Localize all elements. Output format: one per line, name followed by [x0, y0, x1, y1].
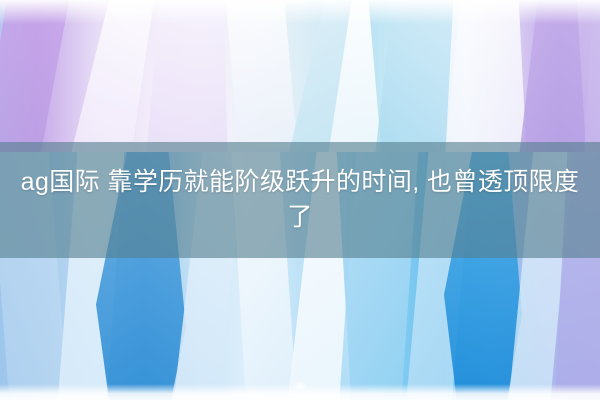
- background-shard-upper-6: [324, 0, 384, 152]
- background-shard-upper-8: [444, 0, 528, 152]
- caption-headline: ag国际 靠学历就能阶级跃升的时间, 也曾透顶限度了: [14, 165, 586, 236]
- caption-band: ag国际 靠学历就能阶级跃升的时间, 也曾透顶限度了: [0, 142, 600, 258]
- background-shard-upper-2: [60, 0, 156, 152]
- background-shard-upper-9: [516, 0, 594, 152]
- background-shard-upper-7: [372, 0, 462, 152]
- background-upper-panel: [0, 0, 600, 152]
- background-shard-upper-10: [576, 0, 600, 152]
- poster-canvas: ag国际 靠学历就能阶级跃升的时间, 也曾透顶限度了: [0, 0, 600, 400]
- background-shard-upper-1: [0, 0, 72, 152]
- background-shard-upper-5: [282, 0, 360, 152]
- background-shard-upper-4: [216, 0, 300, 152]
- background-shard-upper-3: [144, 0, 228, 152]
